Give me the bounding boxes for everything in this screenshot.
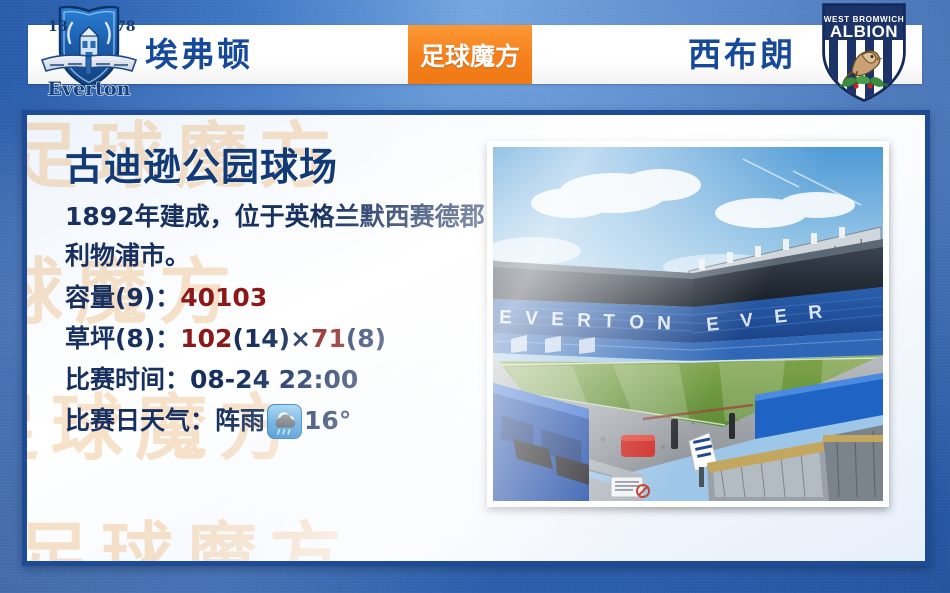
crest-line-2: ALBION	[830, 22, 898, 41]
svg-text:E: E	[705, 314, 720, 336]
svg-text:V: V	[525, 308, 539, 329]
svg-text:E: E	[551, 309, 564, 330]
svg-text:O: O	[629, 312, 645, 334]
svg-text:R: R	[577, 310, 592, 331]
stadium-info-panel: 足球魔方 足球魔方 足球魔方 足球魔方 古迪逊公园球场 1892年建成，位于英格…	[22, 110, 930, 566]
match-header: 18 78 Everton 埃弗顿 足球魔方 西布朗	[0, 0, 950, 103]
capacity-value: 40103	[180, 283, 267, 312]
pitch-length: 102	[180, 324, 232, 353]
goodison-park-photo: E V E R T O N E V E R	[487, 141, 889, 507]
shower-rain-icon	[267, 404, 302, 438]
svg-text:T: T	[603, 311, 616, 332]
brand-logo-text: 足球魔方	[420, 37, 520, 73]
svg-text:R: R	[807, 302, 823, 324]
weather-row: 比赛日天气：阵雨	[65, 400, 485, 441]
match-time-label: 比赛时间：	[65, 365, 190, 394]
watermark-text: 足球魔方	[27, 497, 353, 561]
match-time-value: 08-24 22:00	[190, 365, 358, 394]
west-bromwich-albion-crest: WEST BROMWICH ALBION	[805, 0, 923, 103]
pitch-separator: ×	[290, 324, 311, 353]
weather-value: 阵雨	[215, 400, 265, 441]
stadium-description: 1892年建成，位于英格兰默西赛德郡利物浦市。	[65, 197, 485, 275]
crest-year-right: 78	[116, 19, 135, 35]
pitch-label: 草坪(8)：	[65, 324, 180, 353]
match-time-row: 比赛时间：08-24 22:00	[65, 359, 485, 400]
pitch-width-rating: (8)	[346, 324, 386, 353]
capacity-label: 容量(9)：	[65, 283, 180, 312]
pitch-width: 71	[311, 324, 346, 353]
screenshot-root: 18 78 Everton 埃弗顿 足球魔方 西布朗	[0, 0, 950, 593]
crest-year-left: 18	[48, 19, 67, 35]
brand-logo[interactable]: 足球魔方	[408, 25, 532, 84]
svg-text:E: E	[773, 306, 788, 328]
svg-text:N: N	[657, 313, 671, 334]
temperature-value: 16°	[304, 400, 351, 441]
away-team-name: 西布朗	[688, 27, 796, 82]
crest-club-name: Everton	[48, 78, 131, 100]
svg-text:V: V	[739, 310, 754, 332]
home-team-name: 埃弗顿	[145, 27, 253, 82]
stadium-title: 古迪逊公园球场	[65, 143, 485, 191]
pitch-row: 草坪(8)：102(14)×71(8)	[65, 318, 485, 359]
capacity-row: 容量(9)：40103	[65, 277, 485, 318]
svg-text:E: E	[499, 307, 512, 328]
stadium-info-block: 古迪逊公园球场 1892年建成，位于英格兰默西赛德郡利物浦市。 容量(9)：40…	[65, 143, 485, 441]
weather-label: 比赛日天气：	[65, 400, 215, 441]
everton-crest: 18 78 Everton	[30, 2, 148, 102]
pitch-length-rating: (14)	[232, 324, 290, 353]
